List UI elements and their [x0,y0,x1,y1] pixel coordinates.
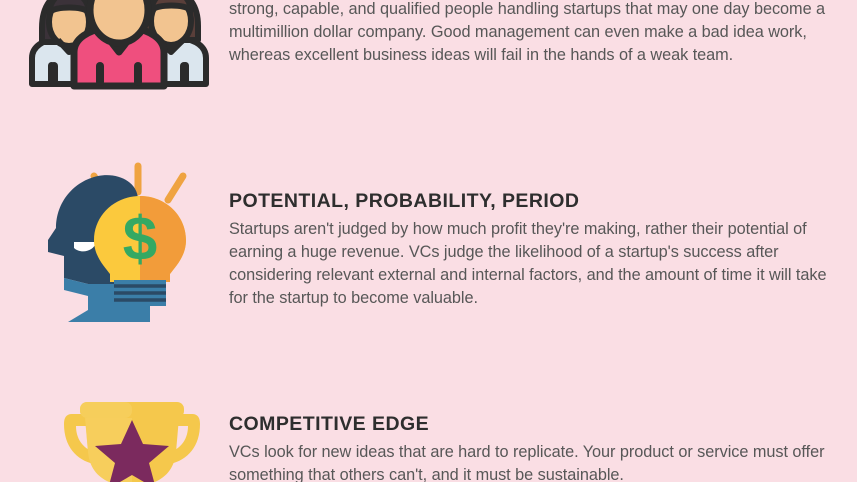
edge-text-column: COMPETITIVE EDGE VCs look for new ideas … [229,413,844,482]
infographic-page: strong, capable, and qualified people ha… [0,0,857,482]
team-text-column: strong, capable, and qualified people ha… [229,0,844,67]
edge-body-text: VCs look for new ideas that are hard to … [229,441,844,482]
svg-text:$: $ [123,205,157,274]
trophy-star-icon [62,400,202,482]
potential-heading: POTENTIAL, PROBABILITY, PERIOD [229,190,844,213]
team-body-text: strong, capable, and qualified people ha… [229,0,844,67]
head-lightbulb-dollar-icon: $ [38,160,210,330]
team-people-icon [24,0,214,86]
potential-body-text: Startups aren't judged by how much profi… [229,218,844,310]
dollar-sign: $ [123,205,157,274]
potential-text-column: POTENTIAL, PROBABILITY, PERIOD Startups … [229,190,844,310]
edge-heading: COMPETITIVE EDGE [229,413,844,436]
